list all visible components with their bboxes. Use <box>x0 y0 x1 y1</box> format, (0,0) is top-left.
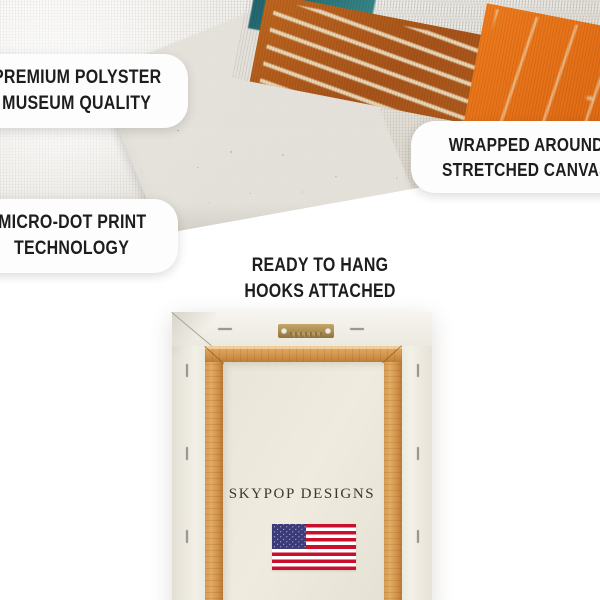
staple <box>417 530 419 543</box>
brand-name-text: SKYPOP DESIGNS <box>229 486 375 502</box>
ready-to-hang-heading: READY TO HANG HOOKS ATTACHED <box>200 253 440 305</box>
staple <box>417 364 419 377</box>
badge-wrapped-line1: WRAPPED AROUND <box>449 132 600 157</box>
stretcher-bar-bevel <box>205 346 402 349</box>
heading-line2: HOOKS ATTACHED <box>219 279 421 305</box>
us-flag-icon <box>272 524 356 570</box>
heading-line1: READY TO HANG <box>219 253 421 279</box>
badge-micro-line2: TECHNOLOGY <box>14 236 129 262</box>
staple <box>186 364 188 377</box>
product-feature-graphic: PREMIUM POLYSTER MUSEUM QUALITY WRAPPED … <box>0 0 600 600</box>
staple <box>218 328 232 330</box>
staple <box>417 447 419 460</box>
brand-label: SKYPOP DESIGNS <box>172 485 432 503</box>
hanger-screw-hole-left <box>281 328 287 334</box>
badge-premium-line2: MUSEUM QUALITY <box>3 91 152 117</box>
staple <box>350 328 364 330</box>
feature-badge-micro-dot-print: MICRO-DOT PRINT TECHNOLOGY <box>0 199 178 273</box>
stretched-canvas-back: SKYPOP DESIGNS <box>172 312 432 600</box>
staple <box>186 447 188 460</box>
stretcher-bar-left <box>205 346 223 600</box>
feature-badge-premium-polyster: PREMIUM POLYSTER MUSEUM QUALITY <box>0 54 188 128</box>
sawtooth-hanger-icon <box>278 324 334 338</box>
hanger-screw-hole-right <box>325 328 331 334</box>
flag-stars <box>272 524 306 549</box>
badge-micro-line1: MICRO-DOT PRINT <box>0 210 146 236</box>
feature-badge-wrapped-around: WRAPPED AROUND STRETCHED CANVAS <box>411 121 600 193</box>
staple <box>186 530 188 543</box>
stretcher-bar-right <box>384 346 402 600</box>
badge-premium-line1: PREMIUM POLYSTER <box>0 65 161 91</box>
badge-wrapped-line2: STRETCHED CANVAS <box>442 157 600 182</box>
